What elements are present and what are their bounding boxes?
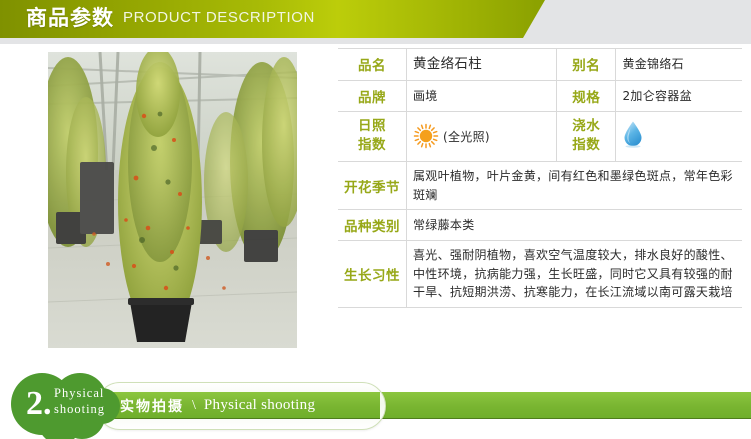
page-title: 商品参数 PRODUCT DESCRIPTION — [26, 2, 315, 32]
section-badge-label: Physical shooting — [54, 386, 105, 417]
spec-label-sunlight-line2: 指数 — [344, 136, 400, 156]
section-physical-shooting: 实物拍摄 \ Physical shooting 2. Physical sho… — [0, 370, 751, 439]
table-row: 品牌 画境 规格 2加仑容器盆 — [338, 80, 742, 111]
product-photo — [48, 52, 297, 348]
page-title-cn: 商品参数 — [26, 2, 114, 32]
spec-label-product-name: 品名 — [338, 49, 407, 81]
spec-label-flowering-season: 开花季节 — [338, 162, 407, 210]
header-gray-tail — [520, 0, 751, 32]
section-badge-label-line2: shooting — [54, 402, 105, 418]
spec-label-sunlight-index: 日照 指数 — [338, 111, 407, 161]
spec-value-flowering-season: 属观叶植物，叶片金黄，间有红色和墨绿色斑点，常年色彩斑斓 — [407, 162, 743, 210]
table-row: 开花季节 属观叶植物，叶片金黄，间有红色和墨绿色斑点，常年色彩斑斓 — [338, 162, 742, 210]
spec-value-brand: 画境 — [407, 80, 557, 111]
greenhouse-photo-illustration — [48, 52, 297, 348]
spec-value-growth-habit: 喜光、强耐阴植物，喜欢空气温度较大，排水良好的酸性、中性环境，抗病能力强，生长旺… — [407, 241, 743, 308]
spec-label-specification: 规格 — [557, 80, 616, 111]
table-row: 日照 指数 — [338, 111, 742, 161]
banner-caption-en: Physical shooting — [204, 397, 315, 414]
spec-label-watering-line2: 指数 — [563, 136, 609, 156]
spec-label-watering-index: 浇水 指数 — [557, 111, 616, 161]
spec-label-growth-habit: 生长习性 — [338, 241, 407, 308]
section-number-badge: 2. Physical shooting — [8, 370, 140, 439]
section-number: 2. — [26, 387, 52, 421]
spec-value-specification: 2加仑容器盆 — [616, 80, 742, 111]
spec-label-sunlight-line1: 日照 — [344, 117, 400, 137]
product-spec-table: 品名 黄金络石柱 别名 黄金锦络石 品牌 画境 规格 2加仑容器盆 日照 指数 — [338, 48, 742, 308]
spec-label-watering-line1: 浇水 — [563, 117, 609, 137]
banner-caption: 实物拍摄 \ Physical shooting — [120, 392, 315, 419]
table-row: 品名 黄金络石柱 别名 黄金锦络石 — [338, 49, 742, 81]
spec-label-alias: 别名 — [557, 49, 616, 81]
spec-value-sunlight-index: (全光照) — [407, 111, 557, 161]
table-row: 生长习性 喜光、强耐阴植物，喜欢空气温度较大，排水良好的酸性、中性环境，抗病能力… — [338, 241, 742, 308]
spec-value-watering-index — [616, 111, 742, 161]
table-row: 品种类别 常绿藤本类 — [338, 210, 742, 241]
spec-value-product-name: 黄金络石柱 — [407, 49, 557, 81]
spec-label-variety-category: 品种类别 — [338, 210, 407, 241]
page-title-en: PRODUCT DESCRIPTION — [123, 9, 315, 26]
product-description-page: 商品参数 PRODUCT DESCRIPTION — [0, 0, 751, 439]
banner-caption-separator: \ — [192, 398, 196, 414]
spec-label-brand: 品牌 — [338, 80, 407, 111]
spec-value-variety-category: 常绿藤本类 — [407, 210, 743, 241]
spec-value-alias: 黄金锦络石 — [616, 49, 742, 81]
section-badge-label-line1: Physical — [54, 386, 105, 402]
spec-value-sunlight-note: (全光照) — [443, 128, 490, 145]
section-header: 商品参数 PRODUCT DESCRIPTION — [0, 0, 751, 44]
sun-icon — [413, 123, 439, 149]
water-drop-icon — [622, 120, 644, 148]
